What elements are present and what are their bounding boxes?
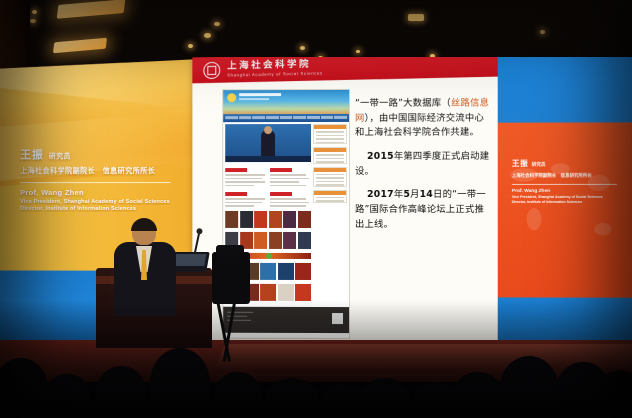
institute-seal-logo-icon [203, 61, 220, 78]
audience-silhouettes [0, 332, 632, 418]
photo-scene: 王振研究员 上海社会科学院副院长 信息研究所所长 Prof. Wang Zhen… [0, 0, 632, 418]
slide-header-cn: 上海社会科学院 [227, 60, 323, 72]
ceiling-spotlight [204, 33, 211, 38]
speaker-cn-org: 上海社会科学院副院长 信息研究所所长 [20, 166, 186, 176]
site-nav-bar [223, 114, 349, 122]
text-run: ），由中国国际经济交流中心和上海社会科学院合作共建。 [355, 112, 484, 138]
ceiling-panel-light [408, 14, 424, 21]
ceiling-spotlight [300, 46, 305, 50]
ceiling-spotlight [32, 10, 37, 14]
site-logo-icon [227, 93, 236, 102]
divider [20, 182, 170, 183]
ceiling-spotlight [188, 44, 193, 48]
ceiling-panel-light [57, 0, 126, 19]
speaker-cn-name: 王振 [20, 146, 44, 162]
screen-right-orange-block [498, 122, 632, 303]
ceiling-spotlight [356, 50, 360, 53]
slide-paragraph-2: 2015年第四季度正式启动建设。 [355, 150, 490, 180]
text-run: 14 [420, 189, 433, 200]
speaker-credit-left: 王振研究员 上海社会科学院副院长 信息研究所所长 Prof. Wang Zhen… [20, 145, 186, 212]
ceiling-spotlight [214, 22, 220, 26]
speaker-en-name: Prof. Wang Zhen [512, 189, 629, 194]
text-run: 月 [410, 189, 420, 200]
speaker-en-line-1: Vice President, Shanghai Academy of Soci… [20, 199, 186, 205]
divider [512, 184, 617, 185]
slide-header-en: Shanghai Academy of Social Sciences [227, 71, 323, 77]
text-run: 年 [394, 189, 404, 200]
speaker-en-line-2: Director, Institute of Information Scien… [512, 200, 629, 204]
text-run: 2015 [367, 151, 394, 162]
ceiling-spotlight [540, 30, 545, 34]
slide-paragraph-3: 2017年5月14日的“一带一路”国际合作高峰论坛上正式推出上线。 [355, 188, 490, 232]
world-map-watermark-icon [498, 122, 632, 303]
site-book-row [225, 210, 311, 227]
video-camera [212, 252, 250, 304]
speaker-en-line-2: Director, Institute of Information Scien… [20, 206, 186, 212]
text-run: “一带一路”大数据库（ [355, 98, 451, 109]
speaker-cn-org: 上海社会科学院副院长 信息研究所所长 [512, 173, 629, 179]
ceiling-panel-light [53, 38, 107, 53]
speaker-en-name: Prof. Wang Zhen [20, 188, 186, 197]
text-run: 5 [403, 189, 410, 200]
slide-header-bar: 上海社会科学院 Shanghai Academy of Social Scien… [192, 57, 497, 83]
speaker-cn-title: 研究员 [532, 162, 546, 167]
speaker-cn-title: 研究员 [49, 153, 71, 160]
speaker-cn-name: 王振 [512, 158, 529, 169]
site-hero-video [225, 124, 311, 162]
slide-paragraph-1: “一带一路”大数据库（丝路信息网），由中国国际经济交流中心和上海社会科学院合作共… [355, 97, 490, 141]
slide-body-text: “一带一路”大数据库（丝路信息网），由中国国际经济交流中心和上海社会科学院合作共… [355, 97, 490, 242]
site-banner [223, 90, 349, 114]
text-run: 2017 [367, 189, 394, 200]
speaker-en-line-1: Vice President, Shanghai Academy of Soci… [512, 195, 629, 199]
screen-right-blue-top [498, 57, 632, 129]
speaker-credit-right: 王振研究员 上海社会科学院副院长 信息研究所所长 Prof. Wang Zhen… [512, 153, 629, 204]
ceiling-spotlight [30, 19, 36, 23]
